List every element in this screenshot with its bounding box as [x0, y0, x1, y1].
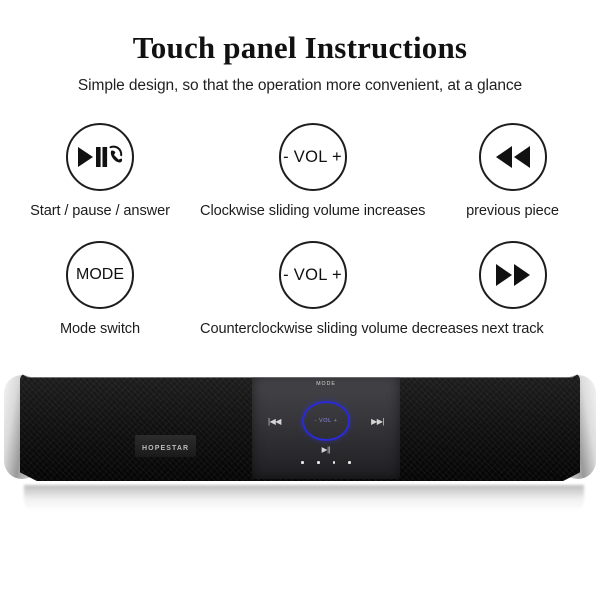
instruction-item-previous-piece: previous piece — [425, 120, 600, 219]
icon-circle — [479, 123, 547, 191]
instructions-grid: Start / pause / answer - VOL + Clockwise… — [0, 120, 600, 370]
indicator-dot — [301, 461, 304, 464]
icon-circle-wrap — [0, 120, 200, 194]
touch-panel-play-pause-icon[interactable]: ▶|| — [252, 445, 400, 454]
touch-panel-next-icon[interactable]: ▶▶| — [371, 417, 384, 426]
indicator-dot — [333, 461, 336, 464]
rewind-icon — [493, 145, 533, 169]
speaker-grille: HOPESTAR MODE - VOL + |◀◀ ▶▶| ▶|| — [20, 373, 580, 481]
touch-panel-prev-icon[interactable]: |◀◀ — [268, 417, 281, 426]
icon-circle-wrap: - VOL + — [200, 120, 425, 194]
icon-circle-wrap: - VOL + — [200, 238, 425, 312]
fast-forward-icon — [493, 263, 533, 287]
instruction-item-volume-increase: - VOL + Clockwise sliding volume increas… — [200, 120, 425, 219]
icon-circle: MODE — [66, 241, 134, 309]
icon-circle — [479, 241, 547, 309]
instruction-caption: Start / pause / answer — [0, 203, 200, 219]
icon-circle-wrap: MODE — [0, 238, 200, 312]
touch-panel-volume-ring[interactable]: - VOL + — [302, 401, 350, 441]
instruction-caption: Mode switch — [0, 321, 200, 337]
indicator-dot — [317, 461, 320, 464]
instruction-item-mode-switch: MODE Mode switch — [0, 238, 200, 337]
touch-panel-vol-label: - VOL + — [314, 418, 337, 424]
product-photo: HOPESTAR MODE - VOL + |◀◀ ▶▶| ▶|| — [0, 368, 600, 600]
indicator-dot — [348, 461, 351, 464]
icon-circle: - VOL + — [279, 123, 347, 191]
page-subtitle: Simple design, so that the operation mor… — [0, 77, 600, 95]
brand-logo: HOPESTAR — [135, 435, 196, 457]
instruction-caption: Clockwise sliding volume increases — [200, 203, 425, 219]
soundbar-speaker: HOPESTAR MODE - VOL + |◀◀ ▶▶| ▶|| — [4, 373, 596, 481]
play-pause-phone-icon — [77, 144, 123, 170]
instruction-item-next-track: next track — [425, 238, 600, 337]
page-title: Touch panel Instructions — [0, 0, 600, 65]
brand-logo-text: HOPESTAR — [142, 445, 189, 452]
instruction-caption: previous piece — [425, 203, 600, 219]
icon-circle — [66, 123, 134, 191]
instruction-caption: Counterclockwise sliding volume decrease… — [200, 321, 425, 337]
vol-text-icon: - VOL + — [283, 266, 342, 285]
instruction-row: MODE Mode switch - VOL + Counterclockwis… — [0, 238, 600, 356]
speaker-reflection — [24, 485, 584, 511]
icon-circle: - VOL + — [279, 241, 347, 309]
touch-panel-indicator-dots — [252, 461, 400, 464]
instruction-caption: next track — [425, 321, 600, 337]
instruction-row: Start / pause / answer - VOL + Clockwise… — [0, 120, 600, 238]
instruction-item-start-pause-answer: Start / pause / answer — [0, 120, 200, 219]
icon-circle-wrap — [425, 238, 600, 312]
instruction-item-volume-decrease: - VOL + Counterclockwise sliding volume … — [200, 238, 425, 337]
touch-panel-mode-label[interactable]: MODE — [252, 381, 400, 387]
icon-circle-wrap — [425, 120, 600, 194]
mode-text-icon: MODE — [76, 266, 124, 284]
touch-panel[interactable]: MODE - VOL + |◀◀ ▶▶| ▶|| — [252, 375, 400, 479]
vol-text-icon: - VOL + — [283, 148, 342, 167]
